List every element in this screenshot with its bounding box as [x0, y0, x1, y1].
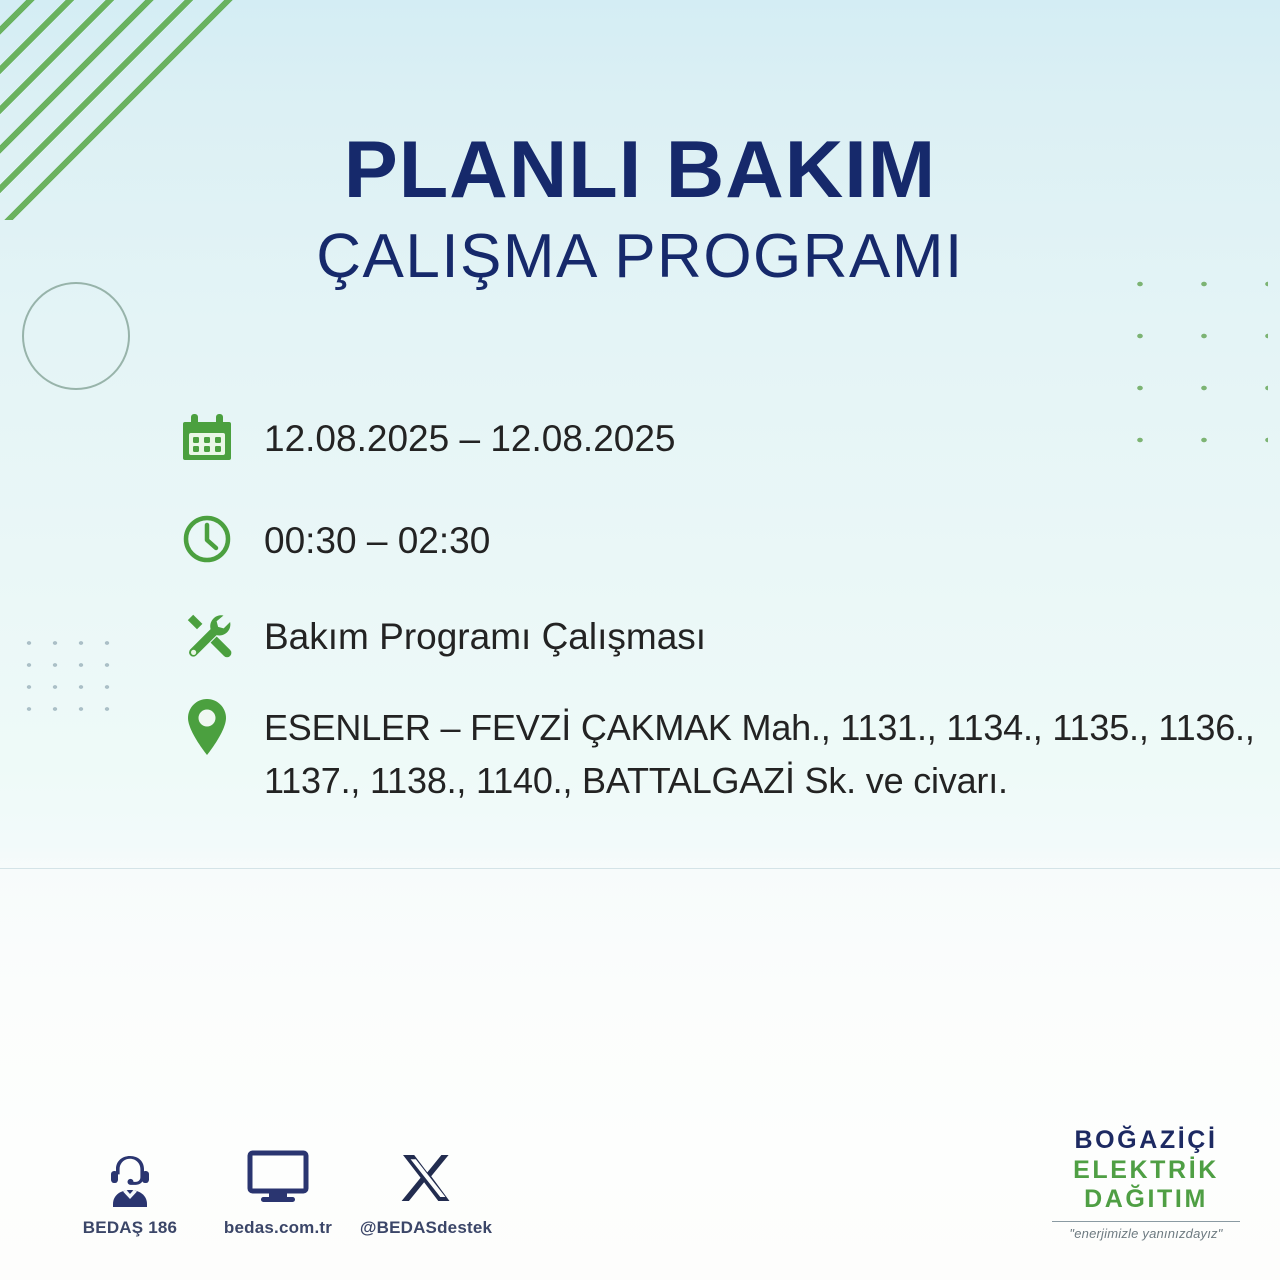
circle-outline-decoration — [22, 282, 130, 390]
contact-call-center[interactable]: BEDAŞ 186 — [56, 1146, 204, 1238]
time-range-value: 00:30 – 02:30 — [238, 508, 490, 568]
page-title: PLANLI BAKIM — [0, 130, 1280, 211]
contact-label: BEDAŞ 186 — [56, 1218, 204, 1238]
poster-headings: PLANLI BAKIM ÇALIŞMA PROGRAMI — [0, 130, 1280, 291]
detail-row-date: 12.08.2025 – 12.08.2025 — [176, 406, 1256, 468]
brand-divider — [1052, 1221, 1240, 1222]
section-divider — [0, 868, 1280, 869]
page-subtitle: ÇALIŞMA PROGRAMI — [0, 223, 1280, 291]
brand-line-dagitim: DAĞITIM — [1046, 1185, 1246, 1215]
work-type-value: Bakım Programı Çalışması — [238, 604, 706, 664]
detail-row-location: ESENLER – FEVZİ ÇAKMAK Mah., 1131., 1134… — [176, 696, 1256, 807]
brand-tagline: "enerjimizle yanınızdayız" — [1046, 1226, 1246, 1241]
detail-row-time: 00:30 – 02:30 — [176, 508, 1256, 570]
location-pin-icon — [176, 696, 238, 758]
call-center-agent-icon — [56, 1146, 204, 1210]
contact-x-social[interactable]: @BEDASdestek — [352, 1146, 500, 1238]
calendar-icon — [176, 406, 238, 468]
location-value: ESENLER – FEVZİ ÇAKMAK Mah., 1131., 1134… — [238, 696, 1256, 807]
outage-details-block: 12.08.2025 – 12.08.2025 00:30 – 02:30 — [176, 406, 1256, 807]
monitor-icon — [204, 1146, 352, 1210]
x-twitter-icon — [352, 1146, 500, 1210]
date-range-value: 12.08.2025 – 12.08.2025 — [238, 406, 676, 466]
brand-line-elektrik: ELEKTRİK — [1046, 1156, 1246, 1186]
tools-icon — [176, 604, 238, 666]
brand-logo: BOĞAZİÇİ ELEKTRİK DAĞITIM "enerjimizle y… — [1046, 1126, 1246, 1241]
footer-contacts: BEDAŞ 186 bedas.com.tr @BEDASdestek — [56, 1146, 500, 1238]
contact-label: @BEDASdestek — [352, 1218, 500, 1238]
clock-icon — [176, 508, 238, 570]
contact-label: bedas.com.tr — [204, 1218, 352, 1238]
poster-canvas: PLANLI BAKIM ÇALIŞMA PROGRAMI — [0, 0, 1280, 1280]
contact-website[interactable]: bedas.com.tr — [204, 1146, 352, 1238]
brand-line-bogazici: BOĞAZİÇİ — [1046, 1126, 1246, 1156]
dot-grid-left-decoration — [16, 632, 120, 724]
detail-row-work-type: Bakım Programı Çalışması — [176, 604, 1256, 666]
